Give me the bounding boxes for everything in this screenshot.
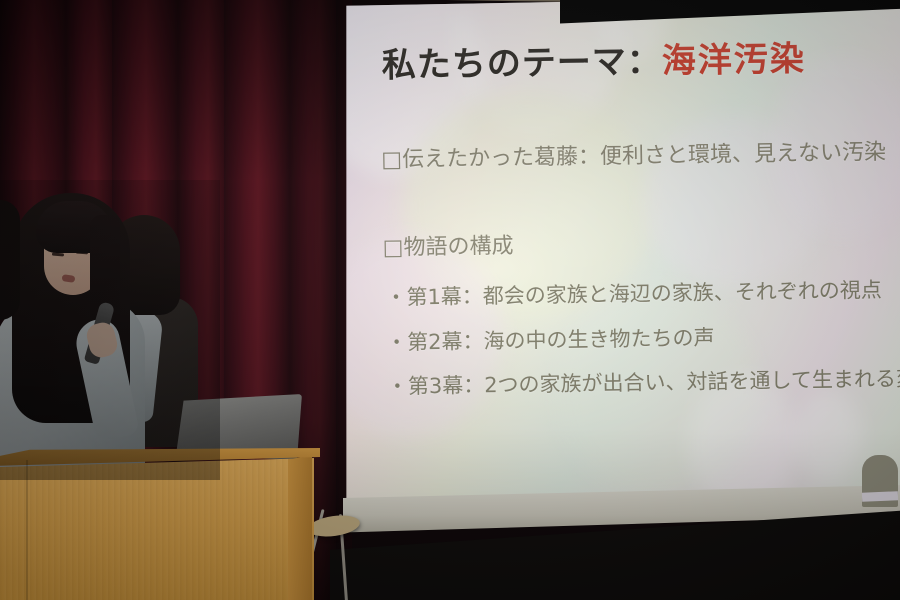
projection-screen: 私たちのテーマ：海洋汚染 □伝えたかった葛藤：便利さと環境、見えない汚染 □物語… — [343, 0, 900, 536]
chair-right-gap — [862, 491, 898, 502]
presentation-photo-scene: 私たちのテーマ：海洋汚染 □伝えたかった葛藤：便利さと環境、見えない汚染 □物語… — [0, 0, 900, 600]
podium-side-panel — [288, 456, 312, 600]
screen-vignette — [343, 0, 900, 536]
background-person-edge — [0, 200, 20, 320]
podium-corner-edge — [26, 460, 28, 600]
podium-front-panel — [0, 458, 314, 600]
podium — [0, 448, 320, 600]
speaker — [0, 195, 190, 475]
